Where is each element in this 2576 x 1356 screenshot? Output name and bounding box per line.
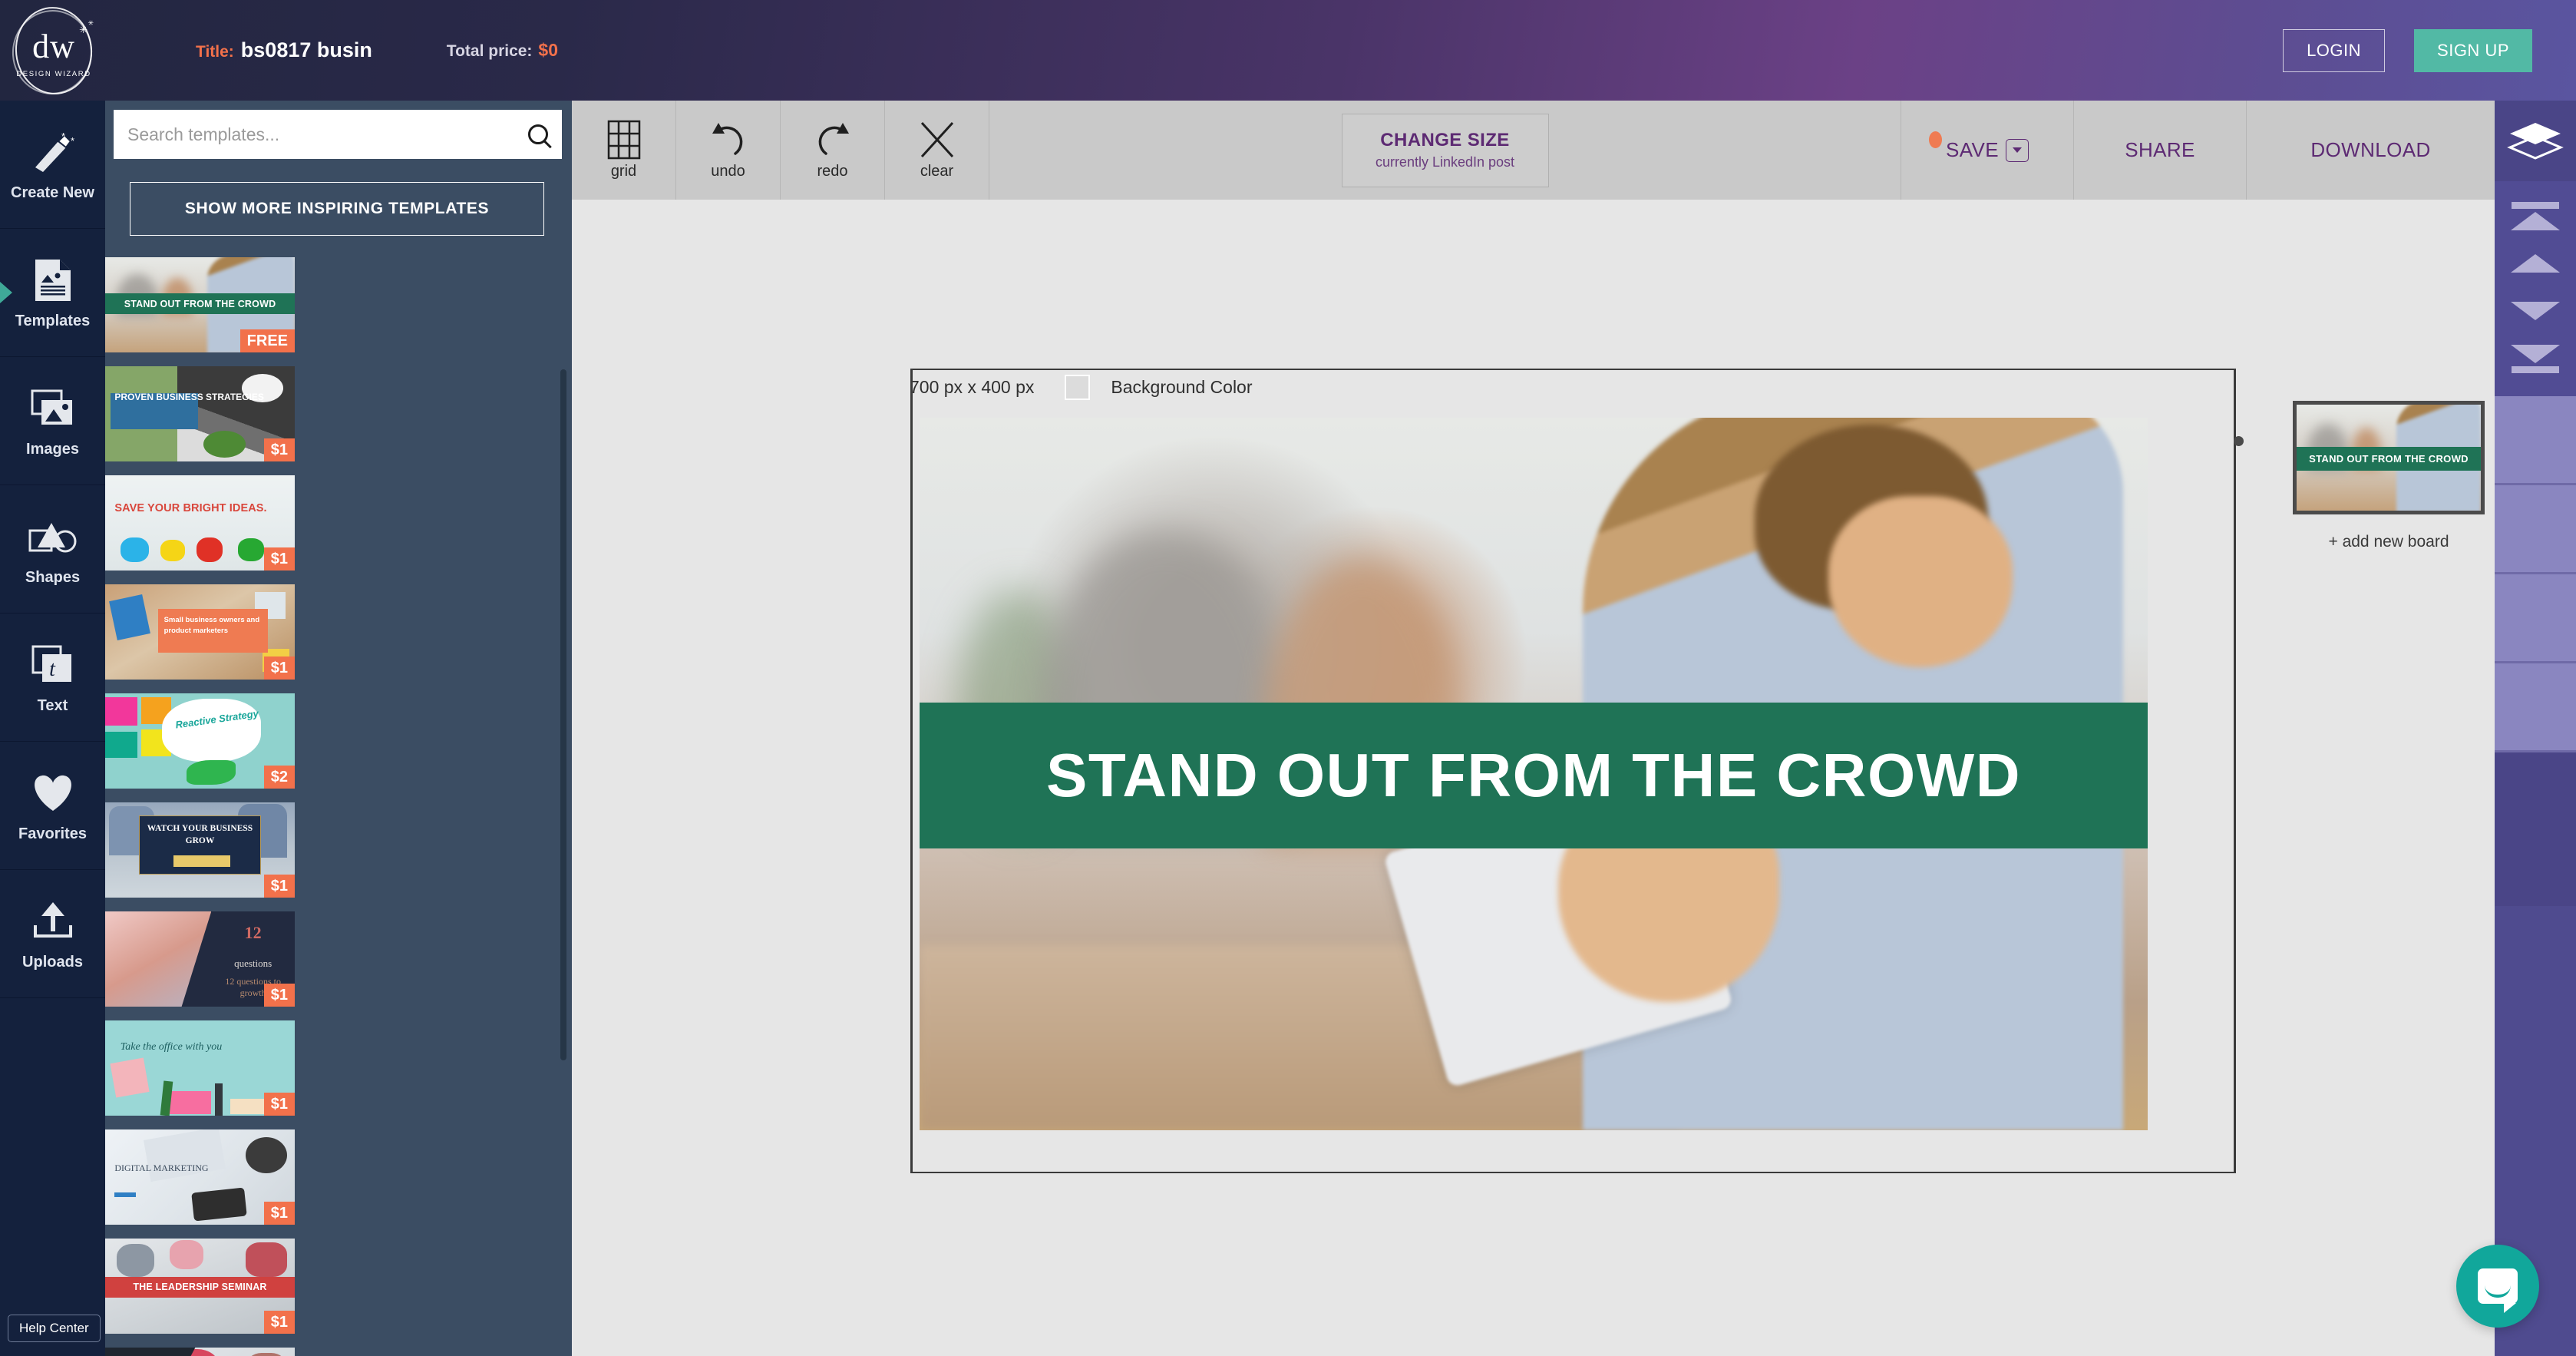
price-label: Total price: (447, 42, 533, 61)
template-card[interactable]: PROVEN BUSINESS STRATEGIES $1 (105, 366, 295, 461)
auth-actions: LOGIN SIGN UP (2283, 29, 2576, 72)
template-card[interactable]: STAND OUT FROM THE CROWD FREE (105, 257, 295, 352)
send-backward-button[interactable] (2495, 287, 2576, 335)
background-color-swatch[interactable] (1065, 375, 1090, 400)
signup-button[interactable]: SIGN UP (2414, 29, 2532, 72)
save-label: SAVE (1946, 138, 1999, 162)
send-to-back-button[interactable] (2495, 335, 2576, 382)
frame-guide-top (910, 369, 2236, 370)
template-card[interactable]: THE LEADERSHIP SEMINAR $1 (105, 1239, 295, 1334)
template-card-badge: $1 (264, 1202, 295, 1225)
logo-mark: dw (12, 30, 95, 64)
templates-scrollbar[interactable] (560, 369, 566, 1060)
redo-button[interactable]: redo (781, 101, 885, 200)
right-rail-panel-block[interactable] (2495, 663, 2576, 752)
bring-to-front-button[interactable] (2495, 192, 2576, 240)
board-thumbnail-banner: STAND OUT FROM THE CROWD (2297, 447, 2481, 470)
logo-subtitle: DESIGN WIZARD (12, 70, 95, 78)
send-backward-icon (2511, 302, 2560, 320)
top-header: ✳ ✳ dw DESIGN WIZARD Title: bs0817 busin… (0, 0, 2576, 101)
template-card-sub: questions (215, 957, 291, 970)
total-price: Total price: $0 (447, 40, 558, 61)
template-card[interactable]: DIGITAL MARKETING $1 (105, 1129, 295, 1225)
template-card-title: SAVE YOUR BRIGHT IDEAS. (114, 502, 266, 514)
template-card-badge: $1 (264, 984, 295, 1007)
arrange-controls (2495, 181, 2576, 396)
canvas-workspace[interactable]: 700 px x 400 px Background Color (572, 200, 2495, 1356)
download-button[interactable]: DOWNLOAD (2246, 101, 2495, 200)
editor-toolbar: grid undo redo (572, 101, 2495, 200)
template-card-badge: $1 (264, 1311, 295, 1334)
search-bar[interactable] (114, 110, 562, 159)
template-card-title: WATCH YOUR BUSINESS GROW (143, 823, 256, 847)
frame-guide-bottom (910, 1172, 2236, 1173)
grid-label: grid (611, 163, 636, 180)
search-input[interactable] (127, 124, 528, 145)
template-card[interactable]: SAVE YOUR BRIGHT IDEAS. $1 (105, 475, 295, 571)
right-rail-panel-block[interactable] (2495, 396, 2576, 485)
sidebar-label-create-new: Create New (11, 184, 94, 202)
chevron-down-icon[interactable] (2006, 139, 2029, 162)
template-card[interactable]: Mobile Marketing GET CONNECTED $1 (105, 1348, 295, 1356)
board-thumbnail[interactable]: STAND OUT FROM THE CROWD (2293, 401, 2485, 514)
show-more-templates-button[interactable]: SHOW MORE INSPIRING TEMPLATES (130, 182, 544, 236)
template-card[interactable]: Take the office with you $1 (105, 1020, 295, 1116)
template-card-badge: $1 (264, 657, 295, 680)
template-card-title: THE LEADERSHIP SEMINAR (133, 1282, 266, 1292)
template-card[interactable]: Reactive Strategy $2 (105, 693, 295, 789)
redo-arrow-icon (814, 120, 852, 160)
logo-sparkle-small-icon: ✳ (88, 19, 94, 28)
sidebar-item-create-new[interactable]: * * Create New (0, 101, 105, 229)
clear-label: clear (920, 163, 953, 180)
save-button[interactable]: SAVE (1901, 101, 2073, 200)
undo-label: undo (711, 163, 745, 180)
svg-text:*: * (71, 135, 74, 147)
search-icon[interactable] (528, 124, 548, 144)
template-card-number: 12 (215, 924, 291, 941)
change-size-sublabel: currently LinkedIn post (1376, 154, 1514, 170)
template-card[interactable]: 12 questions 12 questions to growth $1 (105, 911, 295, 1007)
right-rail-panel-block[interactable] (2495, 752, 2576, 906)
close-x-icon (919, 120, 956, 160)
change-size-button[interactable]: CHANGE SIZE currently LinkedIn post (1342, 114, 1549, 187)
bring-forward-icon (2511, 254, 2560, 273)
template-card-badge: FREE (240, 329, 295, 352)
bring-to-front-icon (2511, 202, 2560, 230)
change-size-label: CHANGE SIZE (1380, 130, 1509, 151)
right-rail-panel-block[interactable] (2495, 574, 2576, 663)
banner-text-element[interactable]: STAND OUT FROM THE CROWD (920, 703, 2148, 848)
grid-button[interactable]: grid (572, 101, 676, 200)
frame-guide-right (2234, 369, 2236, 1172)
login-button[interactable]: LOGIN (2283, 29, 2385, 72)
right-rail (2495, 101, 2576, 1356)
template-card-title: STAND OUT FROM THE CROWD (124, 299, 276, 309)
title-label: Title: (196, 43, 234, 61)
bring-forward-button[interactable] (2495, 240, 2576, 287)
canvas-dimensions: 700 px x 400 px (910, 377, 1034, 398)
template-card-badge: $1 (264, 547, 295, 571)
template-card-title: PROVEN BUSINESS STRATEGIES (114, 391, 263, 403)
clear-button[interactable]: clear (885, 101, 989, 200)
resize-handle[interactable] (2234, 436, 2244, 446)
template-card[interactable]: Small business owners and product market… (105, 584, 295, 680)
add-new-board-button[interactable]: + add new board (2293, 533, 2485, 551)
template-card[interactable]: WATCH YOUR BUSINESS GROW $1 (105, 802, 295, 898)
save-unsaved-dot-icon (1929, 131, 1942, 148)
templates-panel: SHOW MORE INSPIRING TEMPLATES STAND OUT … (105, 101, 572, 1356)
photo-man-face (1828, 496, 2013, 667)
templates-grid: STAND OUT FROM THE CROWD FREE PROVEN BUS… (0, 257, 434, 1356)
layers-button[interactable] (2495, 101, 2576, 181)
undo-arrow-icon (709, 120, 748, 160)
app-logo[interactable]: ✳ ✳ dw DESIGN WIZARD (0, 0, 107, 101)
template-card-badge: $2 (264, 766, 295, 789)
boards-panel: STAND OUT FROM THE CROWD + add new board (2293, 401, 2485, 551)
price-value: $0 (538, 40, 558, 61)
template-card-title: Small business owners and product market… (164, 615, 263, 637)
chat-bubble-icon (2478, 1268, 2518, 1304)
toolbar-spacer-right (1549, 101, 1901, 200)
canvas-meta-bar: 700 px x 400 px Background Color (910, 370, 2245, 404)
title-value[interactable]: bs0817 business pro (241, 38, 373, 63)
grid-icon (607, 120, 641, 160)
canvas-design-image[interactable]: STAND OUT FROM THE CROWD (920, 418, 2148, 1130)
svg-text:*: * (61, 132, 65, 142)
design-title[interactable]: Title: bs0817 business pro (196, 38, 373, 63)
board-thumbnail-caption: STAND OUT FROM THE CROWD (2309, 453, 2469, 465)
canvas-frame[interactable]: STAND OUT FROM THE CROWD (910, 404, 2255, 1173)
right-rail-panel-block[interactable] (2495, 485, 2576, 574)
template-card-title: Take the office with you (121, 1041, 222, 1053)
frame-guide-left (910, 369, 913, 1172)
banner-text: STAND OUT FROM THE CROWD (1046, 740, 2021, 811)
template-card-badge: $1 (264, 1093, 295, 1116)
template-card-badge: $1 (264, 875, 295, 898)
chat-widget-button[interactable] (2456, 1245, 2539, 1328)
template-card-badge: $1 (264, 438, 295, 461)
background-color-label: Background Color (1111, 377, 1252, 398)
layers-icon (2507, 120, 2564, 163)
send-to-back-icon (2511, 345, 2560, 373)
toolbar-spacer-left (989, 101, 1342, 200)
template-card-title: DIGITAL MARKETING (114, 1162, 220, 1174)
magic-wand-icon: * * (31, 127, 75, 177)
chat-smile-icon (2485, 1285, 2511, 1298)
undo-button[interactable]: undo (676, 101, 781, 200)
redo-label: redo (817, 163, 847, 180)
share-button[interactable]: SHARE (2073, 101, 2246, 200)
